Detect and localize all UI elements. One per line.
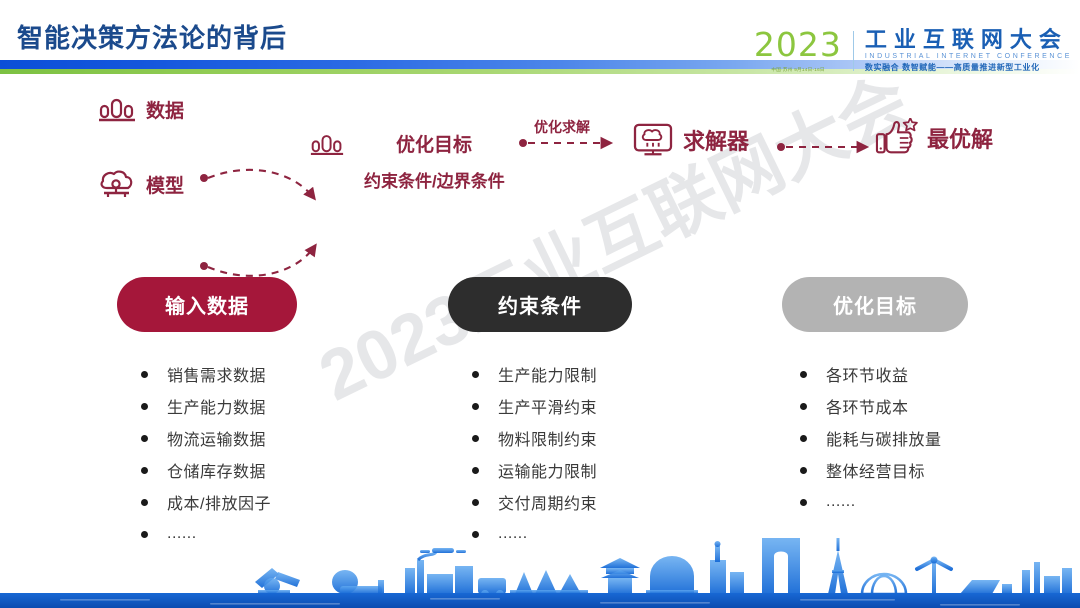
section-header-constraints: 约束条件 bbox=[448, 277, 632, 332]
list-item-label: 成本/排放因子 bbox=[167, 490, 271, 514]
skyline-decoration bbox=[0, 520, 1080, 608]
bullet-dot-icon bbox=[472, 403, 479, 410]
flow-diagram: 数据 模型 优化目标 约束条件/边界条件 bbox=[0, 78, 1080, 238]
flow-node-result: 最优解 bbox=[874, 118, 993, 158]
logo-year-block: 2023 中国·苏州 9月14日-16日 bbox=[754, 28, 853, 73]
list-item: 各环节成本 bbox=[800, 390, 942, 422]
bullet-list-objectives: 各环节收益 各环节成本 能耗与碳排放量 整体经营目标 ...... bbox=[800, 358, 942, 518]
list-item-label: 物流运输数据 bbox=[167, 426, 266, 450]
bullet-dot-icon bbox=[800, 403, 807, 410]
list-item-label: 物料限制约束 bbox=[498, 426, 597, 450]
flow-node-merge bbox=[310, 133, 344, 157]
bullet-dot-icon bbox=[141, 467, 148, 474]
flow-node-solver: 求解器 bbox=[632, 122, 749, 158]
list-item: 交付周期约束 bbox=[472, 486, 597, 518]
thumbs-up-star-icon bbox=[874, 118, 918, 158]
bullet-dot-icon bbox=[800, 499, 807, 506]
list-item-label: 运输能力限制 bbox=[498, 458, 597, 482]
bullet-dot-icon bbox=[141, 371, 148, 378]
list-item: ...... bbox=[800, 486, 942, 518]
list-item-label: 生产能力数据 bbox=[167, 394, 266, 418]
logo-text-block: 工业互联网大会 INDUSTRIAL INTERNET CONFERENCE 数… bbox=[865, 28, 1072, 73]
conference-logo: 2023 中国·苏州 9月14日-16日 工业互联网大会 INDUSTRIAL … bbox=[754, 28, 1072, 73]
list-item: 物料限制约束 bbox=[472, 422, 597, 454]
list-item: 成本/排放因子 bbox=[141, 486, 271, 518]
list-item-label: ...... bbox=[826, 493, 856, 511]
bullet-dot-icon bbox=[141, 435, 148, 442]
list-item-label: 各环节收益 bbox=[826, 362, 909, 386]
flow-label-solver: 求解器 bbox=[683, 124, 749, 156]
model-cloud-icon bbox=[98, 168, 136, 200]
flow-label-data: 数据 bbox=[146, 96, 184, 123]
bar-chart-icon bbox=[98, 97, 136, 123]
logo-name-cn: 工业互联网大会 bbox=[865, 28, 1072, 52]
list-item-label: 仓储库存数据 bbox=[167, 458, 266, 482]
bullet-dot-icon bbox=[800, 435, 807, 442]
bullet-dot-icon bbox=[472, 435, 479, 442]
list-item: 生产能力限制 bbox=[472, 358, 597, 390]
logo-divider bbox=[853, 31, 854, 71]
bullet-dot-icon bbox=[141, 403, 148, 410]
list-item-label: 各环节成本 bbox=[826, 394, 909, 418]
list-item: 仓储库存数据 bbox=[141, 454, 271, 486]
list-item: 生产能力数据 bbox=[141, 390, 271, 422]
list-item-label: 生产能力限制 bbox=[498, 362, 597, 386]
page-title: 智能决策方法论的背后 bbox=[17, 18, 287, 55]
section-header-objectives: 优化目标 bbox=[782, 277, 968, 332]
logo-year-subtitle: 中国·苏州 9月14日-16日 bbox=[771, 66, 824, 72]
list-item-label: 销售需求数据 bbox=[167, 362, 266, 386]
logo-year-number: 2023 bbox=[754, 28, 842, 61]
slide-canvas: 智能决策方法论的背后 2023 中国·苏州 9月14日-16日 工业互联网大会 … bbox=[0, 0, 1080, 608]
flow-node-model: 模型 bbox=[98, 168, 184, 200]
list-item: 生产平滑约束 bbox=[472, 390, 597, 422]
list-item: 运输能力限制 bbox=[472, 454, 597, 486]
flow-constraints-text: 约束条件/边界条件 bbox=[364, 167, 505, 192]
bullet-dot-icon bbox=[800, 467, 807, 474]
list-item: 各环节收益 bbox=[800, 358, 942, 390]
flow-objective-text: 优化目标 bbox=[396, 130, 472, 157]
list-item: 销售需求数据 bbox=[141, 358, 271, 390]
bullet-dot-icon bbox=[472, 371, 479, 378]
list-item: 整体经营目标 bbox=[800, 454, 942, 486]
flow-arrow-label-solve: 优化求解 bbox=[534, 117, 590, 137]
bullet-dot-icon bbox=[800, 371, 807, 378]
list-item-label: 交付周期约束 bbox=[498, 490, 597, 514]
list-item: 物流运输数据 bbox=[141, 422, 271, 454]
bullet-dot-icon bbox=[141, 499, 148, 506]
flow-node-data: 数据 bbox=[98, 96, 184, 123]
bullet-dot-icon bbox=[472, 467, 479, 474]
monitor-brain-icon bbox=[632, 122, 674, 158]
bar-chart-icon bbox=[310, 133, 344, 157]
list-item: 能耗与碳排放量 bbox=[800, 422, 942, 454]
logo-tagline: 数实融合 数智赋能——高质量推进新型工业化 bbox=[865, 62, 1072, 73]
section-header-input-data: 输入数据 bbox=[117, 277, 297, 332]
list-item-label: 能耗与碳排放量 bbox=[826, 426, 942, 450]
logo-name-en: INDUSTRIAL INTERNET CONFERENCE bbox=[865, 53, 1072, 60]
list-item-label: 整体经营目标 bbox=[826, 458, 925, 482]
flow-label-model: 模型 bbox=[146, 171, 184, 198]
list-item-label: 生产平滑约束 bbox=[498, 394, 597, 418]
flow-label-result: 最优解 bbox=[927, 122, 993, 154]
bullet-dot-icon bbox=[472, 499, 479, 506]
